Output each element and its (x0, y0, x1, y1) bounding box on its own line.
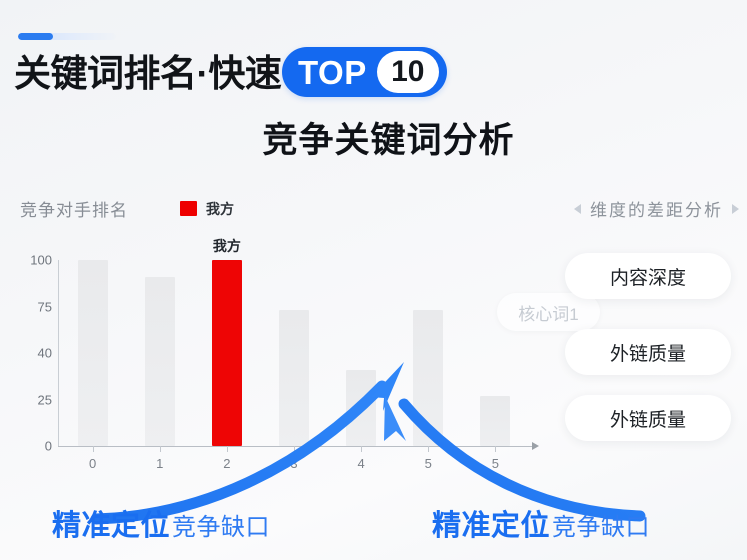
chart-plot-area: 我方 (59, 260, 529, 446)
page-title: 关键词排名·快速 (14, 46, 281, 100)
caption-right-soft: 竞争缺口 (552, 507, 650, 542)
y-axis-tick-label: 25 (12, 392, 52, 407)
x-axis-tick (294, 446, 295, 452)
bar-competitor (279, 310, 309, 446)
caption-right-strong: 精准定位 (432, 502, 550, 544)
x-axis-tick-label: 5 (425, 456, 432, 471)
progress-accent-bar (18, 33, 116, 40)
triangle-right-icon (732, 204, 739, 214)
x-axis-tick (160, 446, 161, 452)
x-axis-tick-label: 2 (223, 456, 230, 471)
y-axis-tick-label: 40 (12, 346, 52, 361)
y-axis-tick-label: 100 (12, 253, 52, 268)
legend-label-ours: 我方 (206, 199, 234, 219)
top-rank-badge: TOP 10 (282, 47, 447, 97)
x-axis-tick (428, 446, 429, 452)
legend-swatch-ours (180, 201, 197, 216)
dimension-gap-title: 维度的差距分析 (590, 196, 723, 221)
dimension-card-2-label: 外链质量 (610, 339, 686, 366)
chart-header: 竞争对手排名 我方 (20, 196, 234, 221)
bar-competitor (346, 370, 376, 446)
caption-left: 精准定位 竞争缺口 (52, 502, 270, 544)
chart-legend: 我方 (180, 199, 234, 219)
x-axis-tick (93, 446, 94, 452)
progress-accent-fill (18, 33, 53, 40)
dimension-card-1[interactable]: 内容深度 (565, 253, 731, 299)
dimension-card-1-label: 内容深度 (610, 263, 686, 290)
y-axis-tick-label: 75 (12, 299, 52, 314)
caption-right: 精准定位 竞争缺口 (432, 502, 650, 544)
triangle-left-icon (574, 204, 581, 214)
dimension-card-3-label: 外链质量 (610, 405, 686, 432)
bar-competitor (413, 310, 443, 446)
x-axis-tick-label: 5 (492, 456, 499, 471)
x-axis-tick (361, 446, 362, 452)
x-axis-tick (495, 446, 496, 452)
x-axis-line (58, 446, 534, 447)
x-axis-tick-label: 3 (290, 456, 297, 471)
badge-number: 10 (377, 51, 439, 93)
chart-title: 竞争对手排名 (20, 196, 128, 221)
slide-canvas: 关键词排名·快速 TOP 10 竞争关键词分析 竞争对手排名 我方 维度的差距分… (0, 0, 747, 560)
page-subtitle: 竞争关键词分析 (0, 112, 747, 163)
bar-ours-label: 我方 (213, 236, 241, 256)
x-axis-tick-label: 4 (358, 456, 365, 471)
dimension-card-3[interactable]: 外链质量 (565, 395, 731, 441)
badge-label: TOP (298, 56, 367, 89)
x-axis-tick-label: 1 (156, 456, 163, 471)
caption-left-soft: 竞争缺口 (172, 507, 270, 542)
x-axis-arrow-icon (532, 442, 539, 450)
caption-left-strong: 精准定位 (52, 502, 170, 544)
competitor-bar-chart: 1007540250 我方 0123455 (14, 250, 534, 460)
dimension-gap-header: 维度的差距分析 (574, 196, 739, 221)
bar-competitor (145, 277, 175, 446)
x-axis-tick (227, 446, 228, 452)
bar-ours: 我方 (212, 260, 242, 446)
bar-competitor (78, 260, 108, 446)
y-axis-tick-label: 0 (12, 439, 52, 454)
page-title-text: 关键词排名·快速 (14, 55, 281, 92)
bar-competitor (480, 396, 510, 446)
dimension-card-2[interactable]: 外链质量 (565, 329, 731, 375)
x-axis-tick-label: 0 (89, 456, 96, 471)
